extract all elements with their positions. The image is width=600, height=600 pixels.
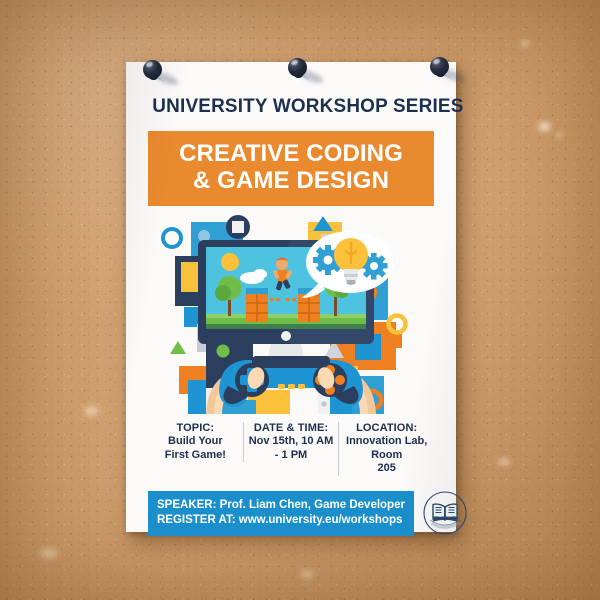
info-column-datetime: DATE & TIME: Nov 15th, 10 AM - 1 PM (243, 422, 339, 463)
info-body-location: Innovation Lab, Room 205 (344, 435, 429, 476)
info-body-datetime: Nov 15th, 10 AM - 1 PM (249, 435, 334, 463)
push-pin-center[interactable] (286, 57, 320, 91)
cork-blotch (40, 548, 58, 559)
info-heading-datetime: DATE & TIME: (249, 422, 334, 434)
footer: SPEAKER: Prof. Liam Chen, Game Developer… (148, 490, 434, 536)
info-column-topic: TOPIC: Build Your First Game! (148, 422, 243, 463)
cork-blotch (498, 458, 510, 466)
title-line-2: & GAME DESIGN (157, 167, 426, 194)
cork-blotch (538, 122, 551, 131)
info-heading-location: LOCATION: (344, 422, 429, 434)
illustration-svg (148, 214, 434, 414)
info-body-topic: Build Your First Game! (153, 435, 238, 463)
registration-bar[interactable]: SPEAKER: Prof. Liam Chen, Game Developer… (148, 491, 414, 536)
open-book-seal (422, 490, 468, 536)
title-line-1: CREATIVE CODING (157, 140, 426, 167)
screenshot-stage: UNIVERSITY WORKSHOP SERIES CREATIVE CODI… (0, 0, 600, 600)
title-band: CREATIVE CODING & GAME DESIGN (148, 131, 434, 206)
info-row: TOPIC: Build Your First Game! DATE & TIM… (148, 422, 434, 476)
push-pin-left[interactable] (141, 59, 175, 93)
hero-illustration (148, 214, 434, 414)
push-pin-right[interactable] (428, 56, 462, 90)
register-link[interactable]: REGISTER AT: www.university.eu/workshops (157, 513, 405, 528)
info-column-location: LOCATION: Innovation Lab, Room 205 (338, 422, 434, 476)
info-body-datetime-line-1: Nov 15th, 10 AM - 1 PM (249, 435, 334, 463)
info-body-topic-line-1: Build Your (153, 435, 238, 449)
cork-blotch (556, 133, 563, 138)
cork-blotch (84, 406, 99, 416)
workshop-poster[interactable]: UNIVERSITY WORKSHOP SERIES CREATIVE CODI… (126, 62, 456, 532)
info-body-location-line-2: 205 (344, 462, 429, 476)
info-body-topic-line-2: First Game! (153, 449, 238, 463)
info-body-location-line-1: Innovation Lab, Room (344, 435, 429, 463)
info-heading-topic: TOPIC: (153, 422, 238, 434)
page-title: UNIVERSITY WORKSHOP SERIES (152, 95, 429, 118)
open-book-seal-icon (422, 490, 468, 536)
speaker-line: SPEAKER: Prof. Liam Chen, Game Developer (157, 498, 405, 513)
cork-blotch (520, 40, 530, 47)
cork-blotch (300, 570, 314, 579)
